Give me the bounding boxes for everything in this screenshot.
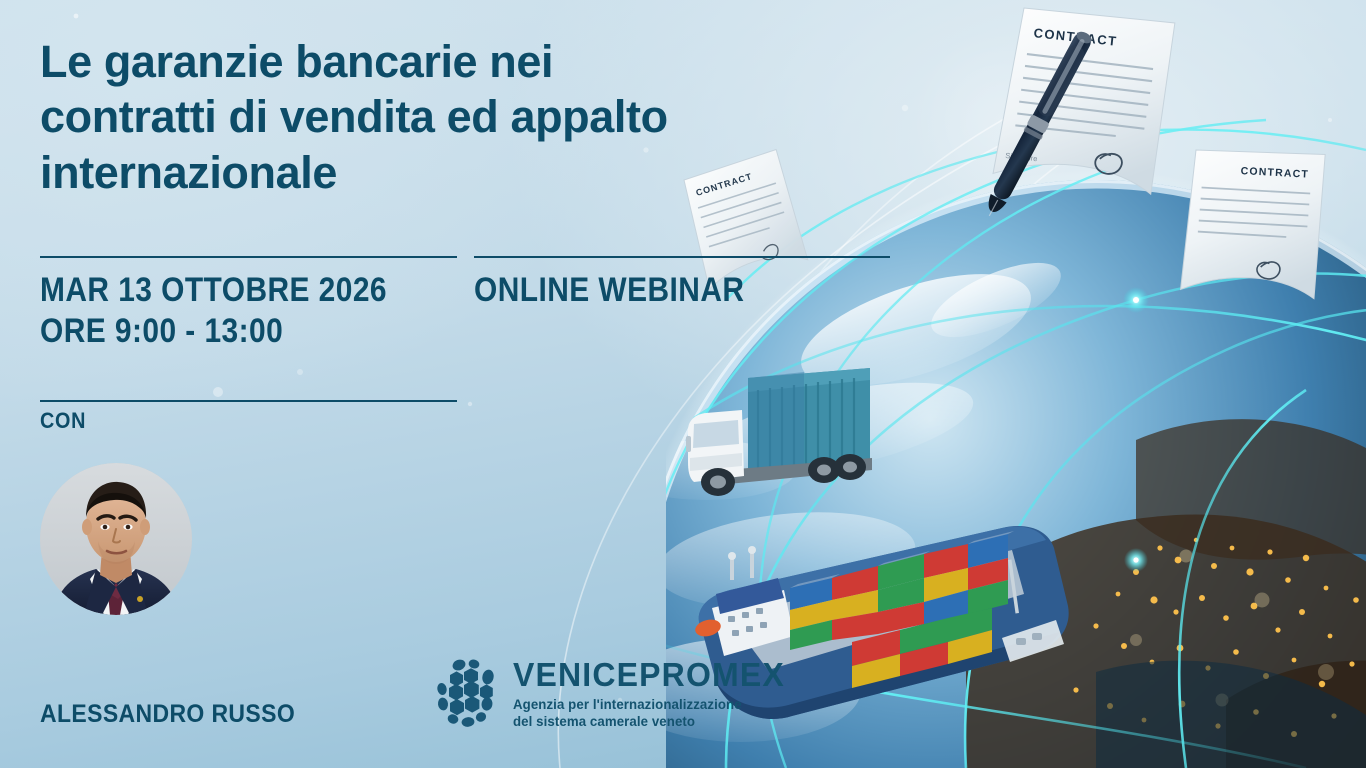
event-time: ORE 9:00 - 13:00	[40, 311, 387, 352]
page-title: Le garanzie bancarie nei contratti di ve…	[40, 34, 860, 200]
speaker-name: ALESSANDRO RUSSO	[40, 700, 295, 729]
contract-title: CONTRACT	[1033, 25, 1118, 49]
event-mode: ONLINE WEBINAR	[474, 270, 744, 311]
background-glow	[910, 30, 1090, 210]
with-label: CON	[40, 408, 86, 434]
logo-tagline: Agenzia per l'internazionalizzazione del…	[513, 696, 788, 731]
speaker-avatar	[40, 463, 192, 615]
logo-tagline-line: Agenzia per l'internazionalizzazione	[513, 696, 788, 713]
contract-body-lines	[1010, 39, 1159, 156]
contract-title: CONTRACT	[1240, 165, 1309, 181]
event-mode-label: ONLINE WEBINAR	[474, 270, 744, 311]
contract-document: CONTRACT	[1172, 132, 1339, 312]
signature-scribble	[1093, 150, 1124, 177]
content-column: Le garanzie bancarie nei contratti di ve…	[40, 0, 920, 768]
logo-text: VENICEPROMEX Agenzia per l'internazional…	[513, 658, 793, 731]
connection-nodes	[1123, 287, 1366, 572]
event-date: MAR 13 OTTOBRE 2026	[40, 270, 387, 311]
venicepromex-logo[interactable]: VENICEPROMEX Agenzia per l'internazional…	[437, 658, 793, 731]
title-line: Le garanzie bancarie nei	[40, 36, 553, 87]
fountain-pen-icon	[980, 28, 1095, 220]
divider-mode	[474, 256, 890, 258]
title-line: contratti di vendita ed appalto	[40, 91, 668, 142]
contract-signature-label: Signature	[1005, 151, 1038, 163]
speaker-portrait-icon	[40, 463, 192, 615]
event-date-time: MAR 13 OTTOBRE 2026 ORE 9:00 - 13:00	[40, 270, 387, 353]
logo-tagline-line: del sistema camerale veneto	[513, 713, 788, 730]
hexagon-sphere-icon	[437, 658, 501, 730]
mediterranean-sea	[1096, 661, 1366, 768]
divider-date	[40, 256, 457, 258]
contract-document: CONTRACT Signature	[983, 0, 1192, 212]
logo-wordmark: VENICEPROMEX	[513, 658, 785, 691]
webinar-banner: CONTRACT Signature CONTRACT CON	[0, 0, 1366, 768]
city-lights-cluster	[1073, 538, 1366, 743]
divider-speaker	[40, 400, 457, 402]
globe-landmasses	[966, 419, 1366, 768]
title-line: internazionale	[40, 147, 337, 198]
